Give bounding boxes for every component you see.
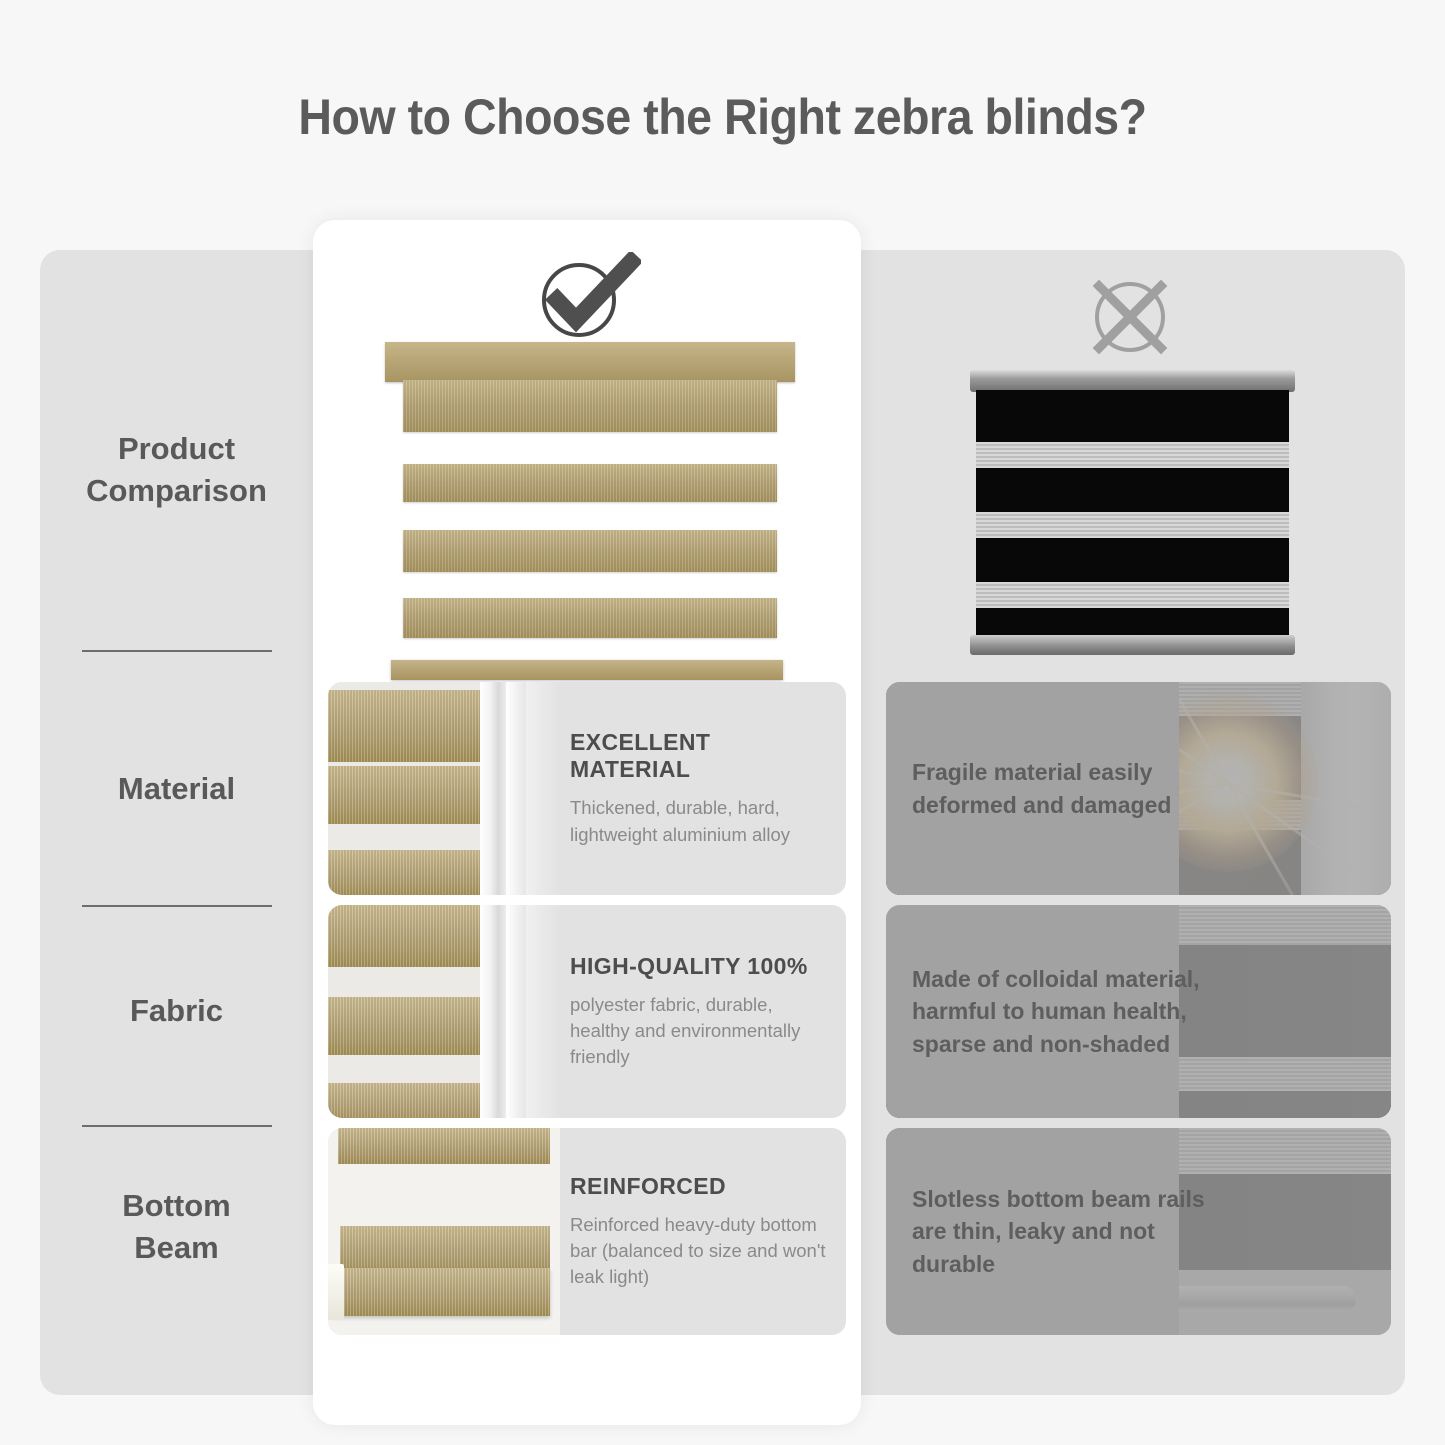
bad-blind-bottom-rail <box>970 635 1295 655</box>
blind-band <box>403 464 777 502</box>
row-divider-1 <box>82 650 272 652</box>
bad-feature-card-material: Fragile material easily deformed and dam… <box>886 682 1391 895</box>
good-feature-card-bottom-beam: REINFORCED Reinforced heavy-duty bottom … <box>328 1128 846 1335</box>
good-feature-heading: REINFORCED <box>570 1173 832 1200</box>
bad-feature-card-fabric: Made of colloidal material, harmful to h… <box>886 905 1391 1118</box>
good-feature-body: Thickened, durable, hard, lightweight al… <box>570 795 832 848</box>
bad-feature-text: Slotless bottom beam rails are thin, lea… <box>912 1128 1212 1335</box>
blind-band <box>403 598 777 638</box>
good-product-hero <box>313 220 861 680</box>
blind-bottom-beam <box>391 660 783 680</box>
bad-blind-illustration <box>970 370 1295 655</box>
row-divider-3 <box>82 1125 272 1127</box>
bad-blind-body <box>976 390 1289 635</box>
blind-band <box>403 530 777 572</box>
row-label-material: Material <box>40 768 313 810</box>
good-blind-illustration <box>385 342 795 672</box>
good-fabric-image <box>328 905 560 1118</box>
check-circle-icon <box>531 252 641 342</box>
bad-blind-sheer-stripe <box>976 582 1289 608</box>
row-divider-2 <box>82 905 272 907</box>
good-feature-heading: EXCELLENT MATERIAL <box>570 729 832 783</box>
good-feature-card-fabric: HIGH-QUALITY 100% polyester fabric, dura… <box>328 905 846 1118</box>
bad-feature-card-bottom-beam: Slotless bottom beam rails are thin, lea… <box>886 1128 1391 1335</box>
bad-product-hero <box>872 250 1405 680</box>
bad-feature-text: Made of colloidal material, harmful to h… <box>912 905 1212 1118</box>
good-feature-card-material: EXCELLENT MATERIAL Thickened, durable, h… <box>328 682 846 895</box>
row-label-bottom-beam: Bottom Beam <box>40 1185 313 1269</box>
label-line-2: Comparison <box>40 470 313 512</box>
good-feature-body: polyester fabric, durable, healthy and e… <box>570 992 832 1071</box>
row-label-product-comparison: Product Comparison <box>40 428 313 512</box>
good-material-image <box>328 682 560 895</box>
good-bottom-beam-image <box>328 1128 560 1335</box>
label-line-1: Bottom <box>40 1185 313 1227</box>
label-line-1: Material <box>40 768 313 810</box>
label-line-1: Product <box>40 428 313 470</box>
label-line-2: Beam <box>40 1227 313 1269</box>
bad-blind-sheer-stripe <box>976 442 1289 468</box>
blind-headrail <box>385 342 795 382</box>
label-line-1: Fabric <box>40 990 313 1032</box>
cross-circle-icon <box>1085 272 1175 362</box>
bad-blind-sheer-stripe <box>976 512 1289 538</box>
infographic-root: How to Choose the Right zebra blinds? Pr… <box>0 0 1445 1445</box>
good-feature-body: Reinforced heavy-duty bottom bar (balanc… <box>570 1212 832 1291</box>
row-label-column: Product Comparison Material Fabric Botto… <box>40 250 313 1395</box>
page-title: How to Choose the Right zebra blinds? <box>51 88 1395 146</box>
good-feature-heading: HIGH-QUALITY 100% <box>570 953 832 980</box>
bad-feature-text: Fragile material easily deformed and dam… <box>912 682 1212 895</box>
row-label-fabric: Fabric <box>40 990 313 1032</box>
bad-blind-headrail <box>970 370 1295 392</box>
blind-band <box>403 380 777 432</box>
